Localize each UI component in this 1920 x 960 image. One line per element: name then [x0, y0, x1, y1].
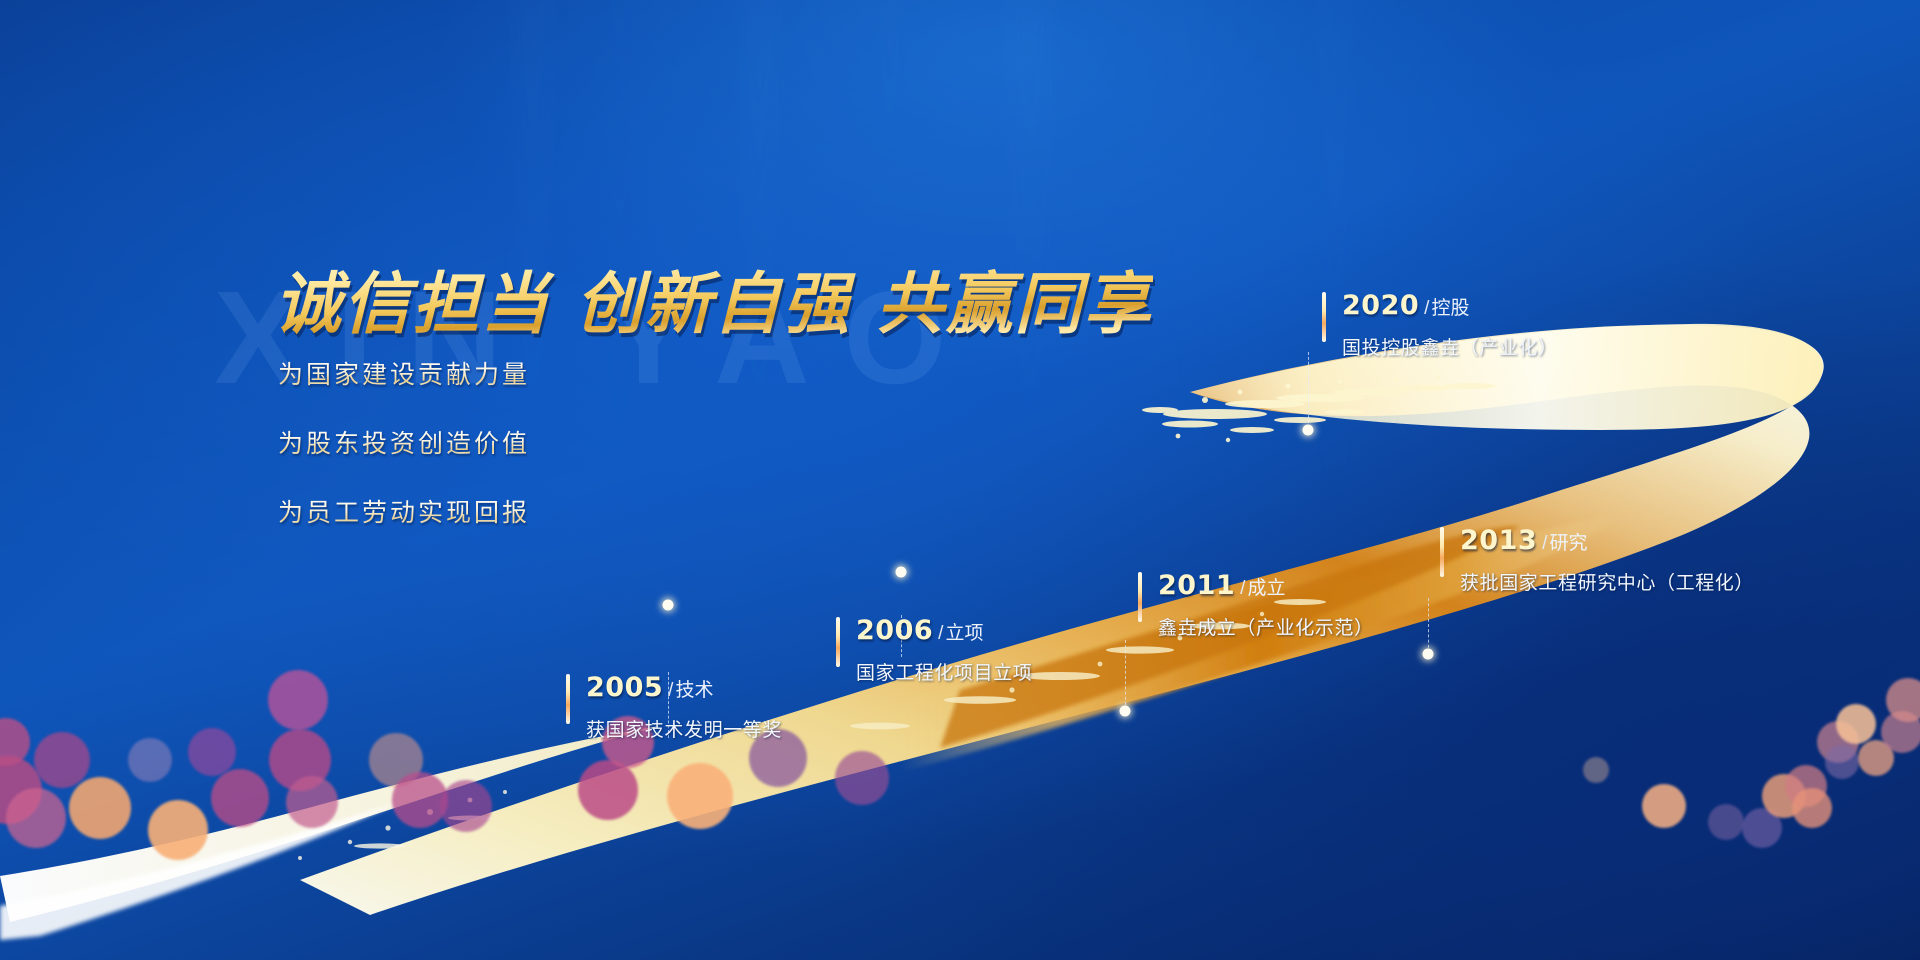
bokeh-dot-left-3 — [6, 788, 66, 848]
bokeh-dot-left-4 — [34, 732, 90, 788]
bokeh-dot-left-15 — [440, 780, 492, 832]
bokeh-dot-left-8 — [188, 728, 236, 776]
milestone-2006[interactable]: 2006/立项国家工程化项目立项 — [836, 615, 1032, 685]
milestone-year-2020: 2020 — [1342, 290, 1419, 321]
bokeh-dot-left-5 — [69, 777, 131, 839]
bokeh-dot-right-9 — [1836, 704, 1876, 744]
bokeh-dot-right-6 — [1792, 788, 1832, 828]
milestone-category-2006: 立项 — [945, 623, 983, 644]
bokeh-dot-left-18 — [667, 763, 733, 829]
slogan-list: 为国家建设贡献力量 为股东投资创造价值 为员工劳动实现回报 — [278, 355, 530, 562]
milestone-description-2020: 国投控股鑫垚（产业化） — [1342, 333, 1558, 360]
bokeh-dot-right-8 — [1825, 745, 1859, 779]
bokeh-dot-left-1 — [0, 756, 42, 824]
milestone-accent-bar-2005 — [566, 674, 570, 724]
milestone-year-2006: 2006 — [856, 615, 933, 646]
milestone-node-2011[interactable] — [1120, 706, 1131, 717]
milestone-node-2006[interactable] — [896, 567, 907, 578]
milestone-separator-2011: / — [1240, 578, 1245, 599]
milestone-accent-bar-2006 — [836, 617, 840, 667]
milestone-text-2006: 2006/立项国家工程化项目立项 — [836, 615, 1032, 685]
milestone-description-2005: 获国家技术发明一等奖 — [586, 715, 782, 742]
milestone-category-2013: 研究 — [1549, 533, 1587, 554]
brush-stroke-bottom-left-highlight — [0, 802, 400, 940]
bokeh-dot-left-13 — [369, 733, 423, 787]
milestone-leader-line-2011 — [1125, 640, 1126, 710]
milestone-heading-2020: 2020/控股 — [1342, 290, 1558, 321]
milestone-description-2006: 国家工程化项目立项 — [856, 658, 1032, 685]
bokeh-dot-left-12 — [286, 776, 338, 828]
milestone-text-2005: 2005/技术获国家技术发明一等奖 — [566, 672, 782, 742]
milestone-heading-2005: 2005/技术 — [586, 672, 782, 703]
bokeh-dot-right-3 — [1742, 808, 1782, 848]
bokeh-dot-right-2 — [1708, 804, 1744, 840]
milestone-separator-2020: / — [1424, 298, 1429, 319]
milestone-heading-2013: 2013/研究 — [1460, 525, 1754, 556]
bokeh-dot-right-7 — [1817, 721, 1859, 763]
brush-stroke-bottom-left — [0, 726, 660, 922]
milestone-heading-2011: 2011/成立 — [1158, 570, 1374, 601]
bokeh-dot-right-12 — [1886, 678, 1920, 722]
bokeh-dot-left-9 — [211, 769, 269, 827]
milestone-accent-bar-2020 — [1322, 292, 1326, 342]
milestone-description-2011: 鑫垚成立（产业化示范） — [1158, 613, 1374, 640]
bokeh-dot-left-2 — [0, 718, 30, 766]
bokeh-dot-right-13 — [1583, 757, 1609, 783]
bokeh-dot-left-7 — [148, 800, 208, 860]
milestone-2013[interactable]: 2013/研究获批国家工程研究中心（工程化） — [1440, 525, 1754, 595]
milestone-2005[interactable]: 2005/技术获国家技术发明一等奖 — [566, 672, 782, 742]
bokeh-dot-right-4 — [1762, 774, 1806, 818]
milestone-year-2005: 2005 — [586, 672, 663, 703]
ribbon-speckle-top — [1142, 376, 1496, 442]
brush-splatter — [298, 790, 507, 860]
milestone-category-2011: 成立 — [1247, 578, 1285, 599]
milestone-2020[interactable]: 2020/控股国投控股鑫垚（产业化） — [1322, 290, 1558, 360]
milestone-node-2013[interactable] — [1423, 649, 1434, 660]
bokeh-dot-right-10 — [1858, 740, 1894, 776]
bokeh-dot-right-5 — [1785, 765, 1827, 807]
bokeh-dot-left-20 — [835, 751, 889, 805]
banner-canvas: XIN YAO 诚信担当 创新自强 共赢同享 为国家建设贡献力量 为股东投资创造… — [0, 0, 1920, 960]
page-title: 诚信担当 创新自强 共赢同享 — [274, 250, 1153, 347]
milestone-2011[interactable]: 2011/成立鑫垚成立（产业化示范） — [1138, 570, 1374, 640]
bokeh-dot-left-16 — [578, 760, 638, 820]
slogan-line-2: 为股东投资创造价值 — [278, 424, 530, 460]
milestone-separator-2005: / — [668, 680, 673, 701]
light-beam-6 — [1180, 0, 1202, 624]
milestone-category-2005: 技术 — [675, 680, 713, 701]
milestone-text-2013: 2013/研究获批国家工程研究中心（工程化） — [1440, 525, 1754, 595]
milestone-text-2020: 2020/控股国投控股鑫垚（产业化） — [1322, 290, 1558, 360]
bokeh-dot-right-1 — [1642, 784, 1686, 828]
bokeh-dot-left-11 — [268, 670, 328, 730]
milestone-accent-bar-2013 — [1440, 527, 1444, 577]
milestone-description-2013: 获批国家工程研究中心（工程化） — [1460, 568, 1754, 595]
milestone-leader-line-2013 — [1428, 598, 1429, 653]
milestone-node-2020[interactable] — [1303, 425, 1314, 436]
bokeh-dot-left-6 — [128, 738, 172, 782]
milestone-text-2011: 2011/成立鑫垚成立（产业化示范） — [1138, 570, 1374, 640]
milestone-node-2005[interactable] — [663, 600, 674, 611]
milestone-heading-2006: 2006/立项 — [856, 615, 1032, 646]
milestone-leader-line-2020 — [1308, 352, 1309, 428]
bokeh-dot-left-14 — [392, 772, 448, 828]
milestone-separator-2013: / — [1542, 533, 1547, 554]
bokeh-dot-right-11 — [1881, 711, 1920, 753]
milestone-year-2013: 2013 — [1460, 525, 1537, 556]
milestone-category-2020: 控股 — [1431, 298, 1469, 319]
milestone-year-2011: 2011 — [1158, 570, 1235, 601]
slogan-line-1: 为国家建设贡献力量 — [278, 355, 530, 391]
slogan-line-3: 为员工劳动实现回报 — [278, 493, 530, 529]
milestone-accent-bar-2011 — [1138, 572, 1142, 622]
bokeh-dot-left-10 — [269, 729, 331, 791]
milestone-separator-2006: / — [938, 623, 943, 644]
